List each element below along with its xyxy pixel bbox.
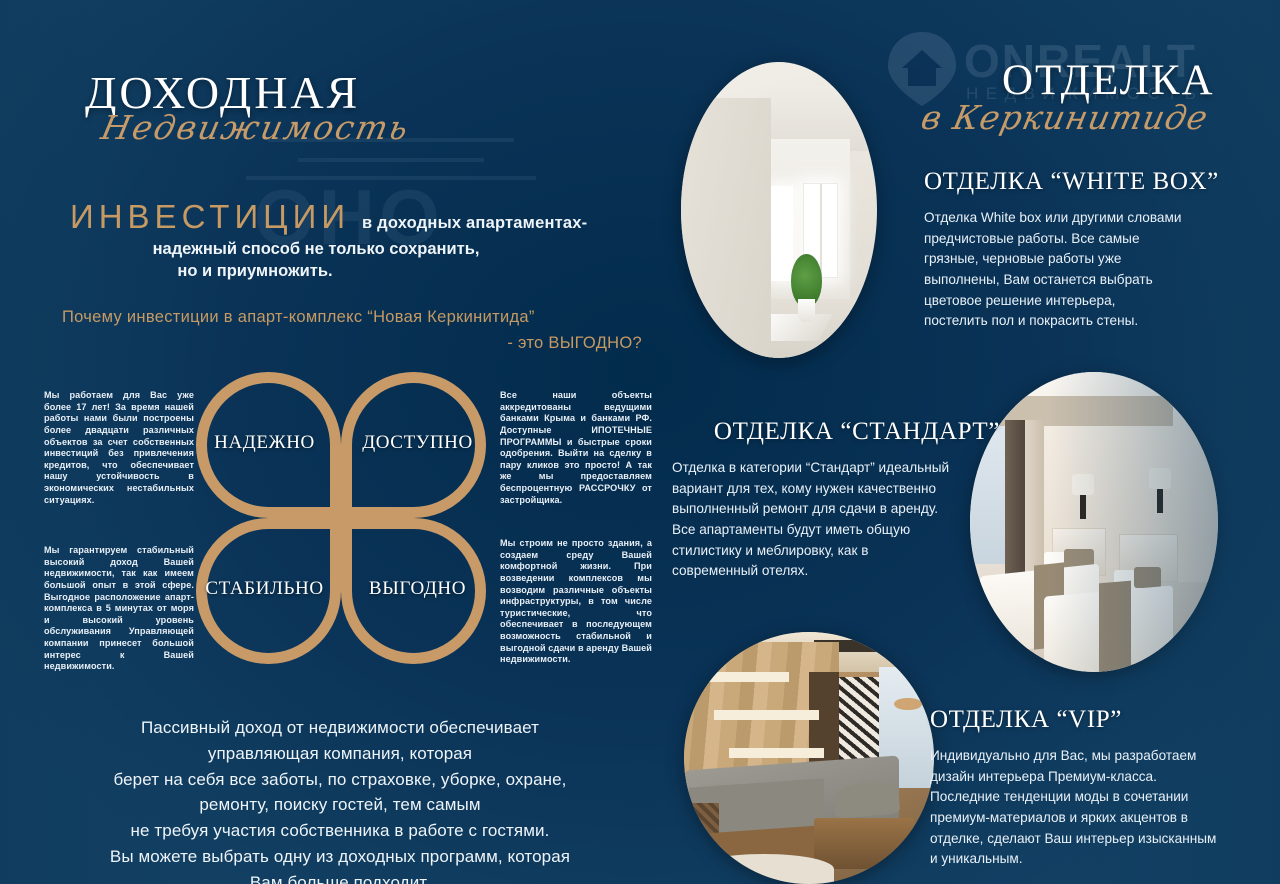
- benefits-quatrefoil: НАДЕЖНО ДОСТУПНО СТАБИЛЬНО ВЫГОДНО: [196, 372, 486, 664]
- finishing-script: в Керкинитиде: [918, 98, 1212, 137]
- benefit-text-bottom-left: Мы гарантируем стабильный высокий доход …: [44, 545, 194, 673]
- investments-line3: но и приумножить.: [70, 262, 590, 281]
- vip-line-3: Последние тенденции моды в сочетании: [930, 787, 1280, 808]
- brochure-page: ONREALT НЕДВИЖИМОСТЬ ОНО ДОХОДНАЯ Недвиж…: [0, 0, 1280, 884]
- benefit-circle-stable[interactable]: СТАБИЛЬНО: [196, 518, 341, 664]
- section-body-white-box: Отделка White box или другими словами пр…: [924, 208, 1270, 332]
- vip-line-2: дизайн интерьера Премиум-класса.: [930, 767, 1280, 788]
- std-line-2: вариант для тех, кому нужен качественно: [672, 479, 1002, 500]
- wb-line-2: предчистовые работы. Все самые: [924, 229, 1270, 250]
- vip-line-5: отделке, сделают Ваш интерьер изысканным: [930, 829, 1280, 850]
- benefit-text-top-right: Все наши объекты аккредитованы ведущими …: [500, 390, 652, 506]
- passive-line-3: берет на себя все заботы, по страховке, …: [40, 767, 640, 793]
- benefit-text-top-left: Мы работаем для Вас уже более 17 лет! За…: [44, 390, 194, 506]
- std-line-3: выполненный ремонт для сдачи в аренду.: [672, 499, 1002, 520]
- passive-line-1: Пассивный доход от недвижимости обеспечи…: [40, 715, 640, 741]
- investments-keyword: ИНВЕСТИЦИИ: [70, 198, 350, 236]
- why-line1: Почему инвестиции в апарт-комплекс “Нова…: [62, 308, 535, 326]
- passive-line-2: управляющая компания, которая: [40, 741, 640, 767]
- wb-line-4: выполнены, Вам останется выбрать: [924, 270, 1270, 291]
- passive-line-5: не требуя участия собственника в работе …: [40, 818, 640, 844]
- investments-block: ИНВЕСТИЦИИ в доходных апартаментах- наде…: [70, 198, 590, 281]
- section-white-box: ОТДЕЛКА “WHITE BOX” Отделка White box ил…: [924, 168, 1270, 332]
- benefit-label-reliable: НАДЕЖНО: [214, 432, 315, 454]
- section-body-standard: Отделка в категории “Стандарт” идеальный…: [672, 458, 1002, 582]
- section-heading-vip: ОТДЕЛКА “VIP”: [930, 706, 1280, 734]
- section-vip: ОТДЕЛКА “VIP” Индивидуально для Вас, мы …: [930, 706, 1280, 870]
- why-question: Почему инвестиции в апарт-комплекс “Нова…: [62, 305, 642, 356]
- vip-line-4: премиум-материалов и ярких акцентов в: [930, 808, 1280, 829]
- std-line-5: стилистику и меблировку, как в: [672, 541, 1002, 562]
- passive-line-7: Вам больше подходит.: [40, 870, 640, 884]
- wb-line-5: цветовое решение интерьера,: [924, 291, 1270, 312]
- wb-line-1: Отделка White box или другими словами: [924, 208, 1270, 229]
- vip-line-6: и уникальным.: [930, 849, 1280, 870]
- investments-tail: в доходных апартаментах-: [362, 214, 587, 233]
- benefit-circle-reliable[interactable]: НАДЕЖНО: [196, 372, 341, 518]
- benefit-circle-profitable[interactable]: ВЫГОДНО: [341, 518, 486, 664]
- section-body-vip: Индивидуально для Вас, мы разработаем ди…: [930, 746, 1280, 870]
- wb-line-3: грязные, черновые работы уже: [924, 249, 1270, 270]
- passive-line-6: Вы можете выбрать одну из доходных прогр…: [40, 844, 640, 870]
- wb-line-6: постелить пол и покрасить стены.: [924, 311, 1270, 332]
- passive-line-4: ремонту, поиску гостей, тем самым: [40, 792, 640, 818]
- benefit-text-bottom-right: Мы строим не просто здания, а создаем ср…: [500, 538, 652, 666]
- std-line-1: Отделка в категории “Стандарт” идеальный: [672, 458, 1002, 479]
- section-heading-white-box: ОТДЕЛКА “WHITE BOX”: [924, 168, 1270, 196]
- why-line2: - это ВЫГОДНО?: [62, 331, 642, 357]
- passive-income-paragraph: Пассивный доход от недвижимости обеспечи…: [40, 715, 640, 884]
- std-line-6: современный отелях.: [672, 561, 1002, 582]
- right-panel: ОТДЕЛКА в Керкинитиде ОТДЕЛКА “WHITE BOX…: [672, 0, 1280, 884]
- left-panel: ДОХОДНАЯ Недвижимость ИНВЕСТИЦИИ в доход…: [0, 0, 672, 884]
- vip-line-1: Индивидуально для Вас, мы разработаем: [930, 746, 1280, 767]
- benefit-label-profitable: ВЫГОДНО: [369, 578, 466, 600]
- investments-line2: надежный способ не только сохранить,: [70, 240, 590, 259]
- benefit-label-available: ДОСТУПНО: [362, 432, 473, 454]
- page-subtitle-script: Недвижимость: [98, 108, 414, 147]
- benefit-label-stable: СТАБИЛЬНО: [205, 578, 323, 600]
- std-line-4: Все апартаменты будут иметь общую: [672, 520, 1002, 541]
- section-standard: ОТДЕЛКА “СТАНДАРТ” Отделка в категории “…: [672, 418, 1002, 582]
- section-heading-standard: ОТДЕЛКА “СТАНДАРТ”: [672, 418, 1002, 446]
- benefit-circle-available[interactable]: ДОСТУПНО: [341, 372, 486, 518]
